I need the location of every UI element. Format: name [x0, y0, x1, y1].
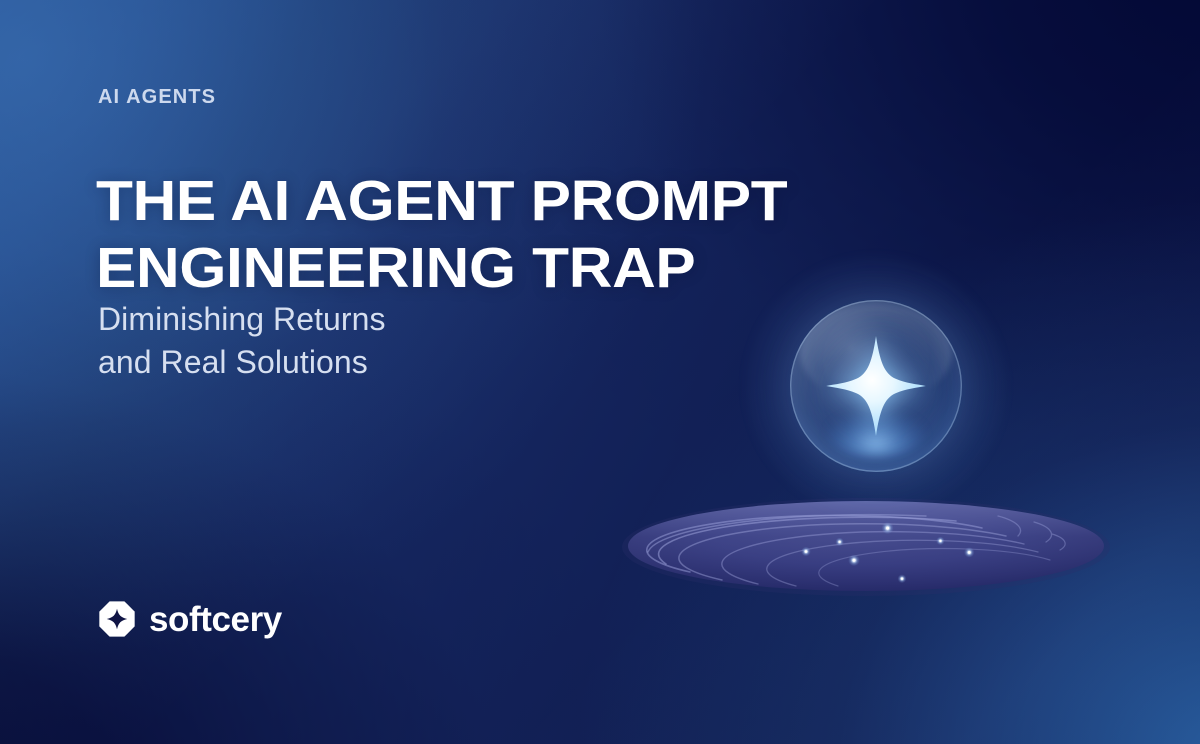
octagon-diamond-icon — [98, 600, 136, 638]
subtitle-line-1: Diminishing Returns — [98, 298, 618, 341]
cover-canvas: AI AGENTS THE AI AGENT PROMPT ENGINEERIN… — [0, 0, 1200, 744]
page-title: THE AI AGENT PROMPT ENGINEERING TRAP — [96, 168, 880, 301]
brand-logo[interactable]: softcery — [98, 600, 282, 638]
subtitle-line-2: and Real Solutions — [98, 341, 618, 384]
eyebrow-label: AI AGENTS — [98, 86, 216, 109]
brand-wordmark: softcery — [149, 602, 282, 637]
cover-content: AI AGENTS THE AI AGENT PROMPT ENGINEERIN… — [98, 0, 858, 744]
headline-line-1: THE AI AGENT PROMPT — [96, 168, 880, 235]
subtitle: Diminishing Returns and Real Solutions — [98, 298, 618, 384]
headline-line-2: ENGINEERING TRAP — [96, 235, 880, 302]
